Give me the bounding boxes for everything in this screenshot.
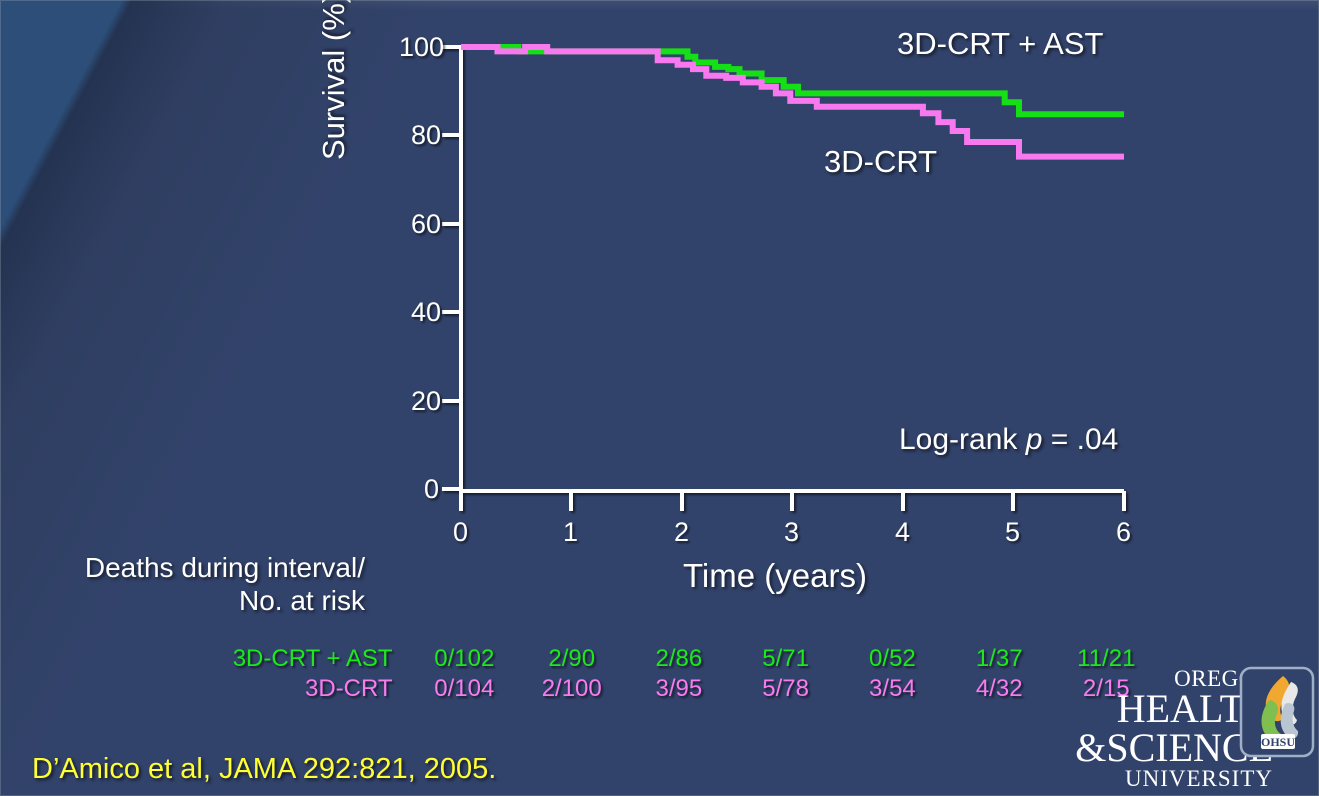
risk-cell: 0/104	[411, 674, 518, 704]
risk-cell: 1/37	[946, 644, 1053, 674]
risk-cell: 3/54	[839, 674, 946, 704]
citation-text: D’Amico et al, JAMA 292:821, 2005.	[32, 753, 496, 786]
risk-cell: 2/86	[625, 644, 732, 674]
risk-cell: 0/102	[411, 644, 518, 674]
risk-row-label: 3D-CRT + AST	[0, 644, 411, 674]
x-tick-1: 1	[563, 517, 578, 548]
survival-curves	[461, 47, 1124, 157]
risk-table-row: 3D-CRT0/1042/1003/955/783/544/322/15	[0, 674, 1160, 704]
y-tick-0: 0	[424, 474, 439, 505]
y-axis-title: Survival (%)	[316, 0, 352, 160]
p-symbol: p	[1026, 423, 1043, 456]
y-tick-20: 20	[411, 386, 441, 417]
risk-cell: 5/71	[732, 644, 839, 674]
risk-cell: 0/52	[839, 644, 946, 674]
risk-cell: 2/100	[518, 674, 625, 704]
risk-cell: 4/32	[946, 674, 1053, 704]
risk-table-caption: Deaths during interval/ No. at risk	[30, 551, 365, 617]
y-tick-100: 100	[399, 32, 444, 63]
x-tick-4: 4	[895, 517, 910, 548]
ohsu-flame-emblem: OHSU	[1239, 666, 1315, 758]
curve-label-3dcrt-ast: 3D-CRT + AST	[897, 26, 1103, 62]
survival-curve-crt	[461, 47, 1124, 157]
y-tick-80: 80	[411, 120, 441, 151]
x-tick-3: 3	[784, 517, 799, 548]
risk-cell: 5/78	[732, 674, 839, 704]
ohsu-logo: OREGON HEALTH &SCIENCE UNIVERSITY OHSU	[1045, 660, 1315, 790]
risk-table-row: 3D-CRT + AST0/1022/902/865/710/521/3711/…	[0, 644, 1160, 674]
logo-line-university: UNIVERSITY	[1053, 768, 1273, 790]
y-tick-60: 60	[411, 209, 441, 240]
y-tick-40: 40	[411, 297, 441, 328]
x-tick-2: 2	[674, 517, 689, 548]
log-rank-p-value: Log-rank p = .04	[899, 423, 1118, 457]
risk-cell: 2/90	[518, 644, 625, 674]
x-tick-0: 0	[453, 517, 468, 548]
curve-label-3dcrt: 3D-CRT	[824, 144, 937, 180]
risk-cell: 3/95	[625, 674, 732, 704]
log-rank-prefix: Log-rank	[899, 423, 1026, 456]
risk-row-label: 3D-CRT	[0, 674, 411, 704]
risk-table: 3D-CRT + AST0/1022/902/865/710/521/3711/…	[0, 644, 1160, 704]
logo-mark-text: OHSU	[1261, 735, 1295, 749]
x-tick-6: 6	[1116, 517, 1131, 548]
risk-caption-line1: Deaths during interval/	[30, 551, 365, 584]
p-equals-value: = .04	[1042, 423, 1118, 456]
x-axis-title: Time (years)	[683, 557, 867, 595]
x-tick-5: 5	[1005, 517, 1020, 548]
risk-caption-line2: No. at risk	[30, 584, 365, 617]
